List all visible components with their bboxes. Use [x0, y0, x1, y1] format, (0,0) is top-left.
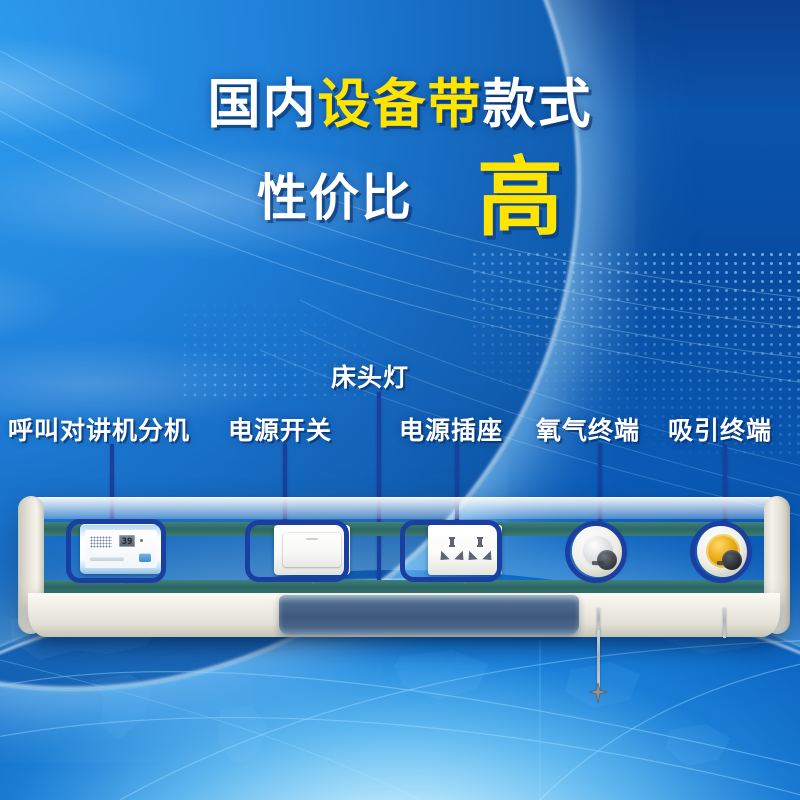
headline-part-2: 款式: [483, 75, 593, 134]
callout-label-bed-lamp: 床头灯: [331, 358, 409, 394]
product-banner: 国内设备带款式 性价比 高 呼叫对讲机分机 电源开关 床头灯 电源插座 氧气终端…: [0, 0, 800, 800]
panel-top-highlight: [24, 497, 784, 519]
highlight-power-switch[interactable]: [245, 520, 349, 582]
headline-line-1: 国内设备带款式: [0, 78, 800, 131]
highlight-power-socket[interactable]: [400, 520, 502, 582]
headline-block: 国内设备带款式 性价比 高: [0, 78, 800, 241]
cord-pull-handle[interactable]: [587, 682, 609, 704]
callout-label-power-switch: 电源开关: [228, 411, 332, 447]
callout-label-suction: 吸引终端: [668, 411, 772, 447]
callout-label-power-socket: 电源插座: [399, 411, 503, 447]
suction-cord: [723, 608, 726, 638]
highlight-suction[interactable]: [690, 521, 752, 583]
headline-line-2-row: 性价比 高: [0, 155, 800, 241]
headline-emphasis-char: 高: [477, 155, 563, 241]
callout-label-intercom: 呼叫对讲机分机: [8, 411, 190, 447]
bed-lamp-diffuser[interactable]: [279, 595, 579, 635]
highlight-intercom[interactable]: [66, 519, 166, 583]
oxygen-cord-upper: [597, 608, 600, 632]
halftone-dots-left: [180, 250, 480, 400]
highlight-oxygen[interactable]: [565, 521, 627, 583]
headline-line-2: 性价比: [257, 173, 413, 223]
headline-part-1: 国内: [208, 75, 318, 134]
callout-label-oxygen: 氧气终端: [536, 411, 640, 447]
headline-highlight: 设备带: [318, 75, 483, 134]
